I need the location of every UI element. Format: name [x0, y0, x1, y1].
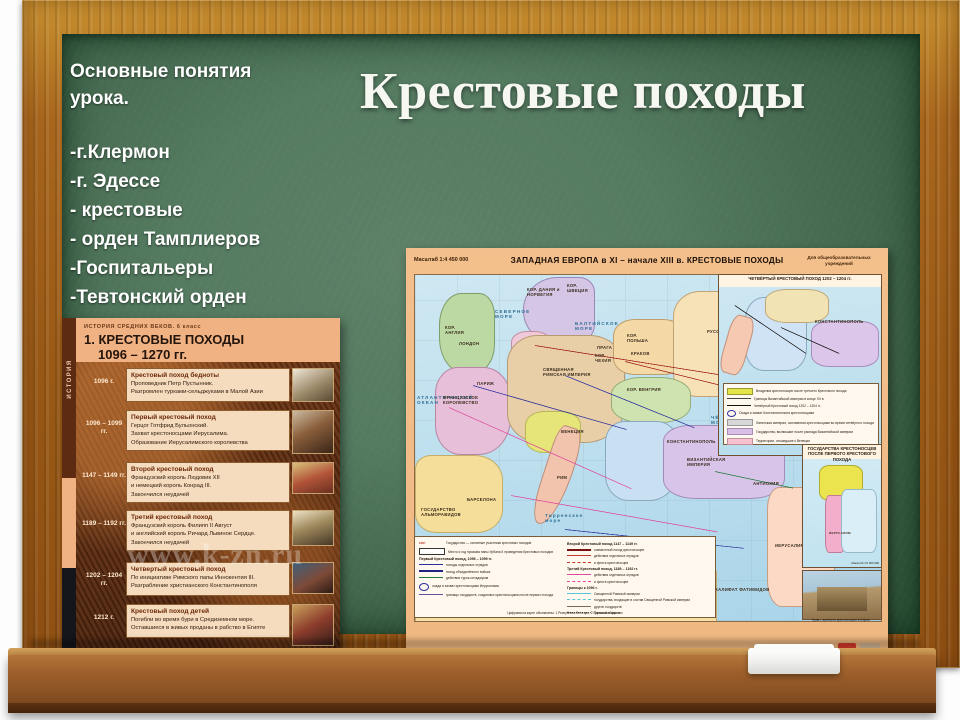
legend-entry: Место и год призыва папы Урбана II прове… [419, 548, 563, 555]
legend-subheading: Второй Крестовый поход 1147 – 1149 гг. [567, 542, 711, 546]
legend-label: Осада и захват Константинополя крестонос… [739, 411, 814, 415]
legend-entry: Границы Византийской империи в конце XII… [727, 397, 875, 401]
row-heading: Первый крестовый поход [131, 414, 285, 422]
row-line: Оставшиеся в живых проданы в рабство в Е… [131, 625, 285, 632]
list-item: -г. Эдессе [70, 167, 370, 196]
region-label: ФРАНЦУЗСКОЕ КОРОЛЕВСТВО [443, 395, 483, 405]
notes-heading-line1: Основные понятия [70, 58, 370, 85]
row-line: Французский король Людовик XII [131, 475, 285, 482]
legend-swatch [567, 555, 591, 557]
inset-scale: Масштаб 1:5 000 000 [851, 561, 879, 565]
list-item: - крестовые [70, 196, 370, 225]
legend-swatch [567, 606, 591, 608]
row-illustration [292, 510, 334, 546]
row-year: 1096 – 1099 гг. [82, 410, 126, 436]
legend-subheading: Границы к 1096 г. [567, 586, 711, 590]
legend-label: границы государств, созданных крестоносц… [446, 593, 553, 597]
city-label: РИМ [557, 475, 567, 480]
legend-swatch [567, 574, 591, 576]
legend-swatch [727, 428, 753, 435]
table-row: 1147 – 1149 гг. Второй крестовый поход Ф… [82, 462, 334, 503]
row-illustration [292, 462, 334, 494]
legend-swatch [567, 599, 591, 601]
city-label: ПРАГА [597, 345, 612, 350]
legend-entry: других государств [567, 605, 711, 609]
row-illustration [292, 562, 334, 594]
legend-swatch [727, 405, 751, 407]
legend-left-column: КОР.Государства — основные участники кре… [419, 541, 563, 599]
inset-land-inner [841, 489, 877, 553]
legend-label: Государства — основные участники крестов… [446, 541, 531, 545]
legend-entry: осада и захват крестоносцами Иерусалима [419, 583, 563, 591]
legend-label: Латинская империя, основанная крестоносц… [756, 421, 874, 425]
legend-swatch [567, 562, 591, 564]
castle-photo [802, 570, 882, 620]
legend-footer: Цифрами на карте обозначены: 1 Республик… [419, 611, 711, 615]
historical-map-poster[interactable]: Масштаб 1:4 450 000 ЗАПАДНАЯ ЕВРОПА в XI… [406, 248, 888, 658]
poster-title: 1. КРЕСТОВЫЕ ПОХОДЫ 1096 – 1270 гг. [84, 332, 334, 362]
region-label: КОР. ЧЕХИЯ [595, 353, 621, 363]
slide-stage: Основные понятия урока. -г.Клермон -г. Э… [0, 0, 960, 720]
table-row: 1096 г. Крестовый поход бедноты Проповед… [82, 368, 334, 402]
legend-label: государства, входящие в состав Священной… [594, 598, 690, 602]
legend-entry: Владения крестоносцев после третьего Кре… [727, 388, 875, 395]
inset-fourth-crusade: ЧЕТВЁРТЫЙ КРЕСТОВЫЙ ПОХОД 1202 – 1204 гг… [718, 274, 882, 456]
legend-entry: и флота крестоносцев [567, 580, 711, 584]
list-item: -г.Клермон [70, 138, 370, 167]
poster-subject-label: ИСТОРИЯ [67, 327, 73, 431]
table-row: 1202 – 1204 гг. Четвертый крестовый похо… [82, 562, 334, 596]
row-line: Проповедник Петр Пустынник. [131, 381, 285, 388]
legend-swatch [727, 438, 753, 445]
legend-entry: Осада и захват Константинополя крестонос… [727, 410, 875, 417]
row-line: Французский король Филипп II Август [131, 523, 285, 530]
row-line: Закончился неудачей [131, 540, 285, 547]
legend-label: Владения крестоносцев после третьего Кре… [756, 389, 846, 393]
legend-swatch [727, 388, 753, 395]
legend-subheading: Третий Крестовый поход, 1189 – 1192 гг. [567, 567, 711, 571]
legend-swatch [419, 548, 445, 555]
legend-swatch [727, 410, 736, 417]
row-year: 1147 – 1149 гг. [82, 462, 126, 480]
city-label: БАРСЕЛОНА [467, 497, 496, 502]
legend-swatch [567, 593, 591, 595]
land-iberia [415, 455, 503, 533]
legend-label: действия турок-сельджуков [446, 576, 488, 580]
poster-title-text: 1. КРЕСТОВЫЕ ПОХОДЫ [84, 332, 244, 347]
poster-eyebrow: ИСТОРИЯ СРЕДНИХ ВЕКОВ. 6 класс [84, 324, 334, 330]
region-label: ХАЛИФАТ ФАТИМИДОВ [715, 587, 773, 592]
map-legend: КОР.Государства — основные участники кре… [414, 536, 716, 618]
legend-entry: действия отдельных отрядов [567, 554, 711, 558]
city-label: ПАРИЖ [477, 381, 494, 386]
legend-entry: Государства, возникшие после распада Виз… [727, 428, 875, 435]
row-year: 1189 – 1192 гг. [82, 510, 126, 528]
sea-label: СЕВЕРНОЕ МОРЕ [495, 309, 541, 319]
poster-side-blank [62, 480, 76, 566]
legend-swatch [419, 570, 443, 573]
row-line: Захват крестоносцами Иерусалима. [131, 431, 285, 438]
legend-label: действия отдельных отрядов [594, 554, 639, 558]
row-line: и немецкий король Конрад III. [131, 483, 285, 490]
row-line: Закончился неудачей [131, 492, 285, 499]
row-line: Разграбление христианского Константинопо… [131, 583, 285, 590]
legend-label: Четвёртый Крестовый поход 1202 – 1204 гг… [754, 404, 821, 408]
row-line: По инициативе Римского папы Иннокентия I… [131, 575, 285, 582]
legend-label: Границы Византийской империи в конце XII… [754, 397, 824, 401]
land-hungary [611, 377, 691, 423]
legend-entry: Латинская империя, основанная крестоносц… [727, 419, 875, 426]
shelf-lip [8, 703, 936, 713]
city-label: ИЕРУСАЛИМ [775, 543, 804, 548]
row-heading: Крестовый поход детей [131, 608, 285, 616]
legend-swatch [727, 419, 753, 426]
inset-city-jerusalem: ИЕРУСАЛИМ [829, 531, 851, 535]
inset-title: ГОСУДАРСТВА КРЕСТОНОСЦЕВ ПОСЛЕ ПЕРВОГО К… [803, 446, 881, 462]
legend-label: Территории, отошедшие к Венеции [756, 439, 810, 443]
list-item: -Тевтонский орден [70, 283, 370, 312]
legend-entry: действия отдельных отрядов [567, 573, 711, 577]
legend-swatch: КОР. [419, 541, 443, 546]
poster-years: 1096 – 1270 гг. [98, 347, 334, 362]
legend-entry: совместный поход крестоносцев [567, 548, 711, 552]
row-line: и английский король Ричард Львиное Сердц… [131, 531, 285, 538]
row-line: Погибли во время бури в Средиземном море… [131, 617, 285, 624]
table-row: 1189 – 1192 гг. Третий крестовый поход Ф… [82, 510, 334, 551]
inset-legend-col: Владения крестоносцев после третьего Кре… [727, 388, 875, 447]
row-line: Образование Иерусалимского королевства [131, 440, 285, 447]
land-france [435, 367, 511, 455]
legend-label: других государств [594, 605, 622, 609]
legend-label: действия отдельных отрядов [594, 573, 639, 577]
row-card: Второй крестовый поход Французский корол… [126, 462, 290, 503]
city-label: ВЕНЕЦИЯ [561, 429, 584, 434]
legend-entry: и флота крестоносцев [567, 561, 711, 565]
legend-swatch [419, 577, 443, 579]
poster-subject-tab: ИСТОРИЯ [62, 318, 76, 478]
sea-label: Тирренское море [545, 513, 581, 523]
region-label: ВИЗАНТИЙСКАЯ ИМПЕРИЯ [687, 457, 735, 467]
legend-entry: границы государств, созданных крестоносц… [419, 593, 563, 597]
inset-legend: Владения крестоносцев после третьего Кре… [723, 383, 879, 445]
inset-title: ЧЕТВЁРТЫЙ КРЕСТОВЫЙ ПОХОД 1202 – 1204 гг… [719, 276, 881, 281]
legend-label: Место и год призыва папы Урбана II прове… [448, 550, 553, 554]
legend-entry: КОР.Государства — основные участники кре… [419, 541, 563, 546]
inset-city-constantinople: КОНСТАНТИНОПОЛЬ [815, 319, 864, 324]
page-title: Крестовые походы [360, 62, 880, 121]
region-label: СВЯЩЕННАЯ РИМСКАЯ ИМПЕРИЯ [543, 367, 595, 377]
map-audience-label: Для общеобразовательных учреждений [796, 255, 882, 267]
legend-label: и флота крестоносцев [594, 561, 628, 565]
row-line: Разгромлен турками-сельджуками в Малой А… [131, 389, 285, 396]
sea-label: БАЛТИЙСКОЕ МОРЕ [575, 321, 617, 331]
row-year: 1212 г. [82, 604, 126, 622]
legend-swatch [419, 594, 443, 596]
row-line: Герцог Готфрид Бульонский. [131, 423, 285, 430]
legend-right-column: Второй Крестовый поход 1147 – 1149 гг. с… [567, 541, 711, 618]
legend-swatch [727, 398, 751, 400]
legend-entry: походы отдельных отрядов [419, 563, 563, 567]
legend-label: походы отдельных отрядов [446, 563, 488, 567]
legend-label: и флота крестоносцев [594, 580, 628, 584]
lesson-notes: Основные понятия урока. -г.Клермон -г. Э… [70, 58, 370, 312]
city-label: АНТИОХИЯ [753, 481, 779, 486]
castle-silhouette [817, 587, 867, 611]
legend-entry: Четвёртый Крестовый поход 1202 – 1204 гг… [727, 404, 875, 408]
inset-land-hungary [765, 289, 829, 323]
row-heading: Четвертый крестовый поход [131, 566, 285, 574]
poster-body: 1096 г. Крестовый поход бедноты Проповед… [76, 362, 340, 684]
city-label: КРАКОВ [631, 351, 650, 356]
city-label: ЛОНДОН [459, 341, 479, 346]
notes-heading-line2: урока. [70, 85, 370, 112]
row-card: Четвертый крестовый поход По инициативе … [126, 562, 290, 596]
list-item: -Госпитальеры [70, 254, 370, 283]
row-illustration [292, 368, 334, 402]
row-card: Третий крестовый поход Французский корол… [126, 510, 290, 551]
chalk-eraser[interactable] [748, 648, 840, 674]
legend-swatch [419, 583, 429, 591]
row-illustration [292, 410, 334, 454]
row-heading: Крестовый поход бедноты [131, 372, 285, 380]
row-year: 1202 – 1204 гг. [82, 562, 126, 588]
legend-swatch [567, 581, 591, 583]
row-heading: Второй крестовый поход [131, 466, 285, 474]
legend-label: совместный поход крестоносцев [594, 548, 644, 552]
row-heading: Третий крестовый поход [131, 514, 285, 522]
inset-crusader-states: ГОСУДАРСТВА КРЕСТОНОСЦЕВ ПОСЛЕ ПЕРВОГО К… [802, 444, 882, 568]
row-card: Крестовый поход бедноты Проповедник Петр… [126, 368, 290, 402]
region-label: КОР. ПОЛЬША [627, 333, 657, 343]
poster-header: ИСТОРИЯ СРЕДНИХ ВЕКОВ. 6 класс 1. КРЕСТО… [84, 324, 334, 362]
region-label: КОР. ДАНИЯ и НОРВЕГИЯ [527, 287, 563, 297]
city-label: КОНСТАНТИНОПОЛЬ [667, 439, 716, 444]
legend-entry: действия турок-сельджуков [419, 576, 563, 580]
legend-swatch [567, 549, 591, 552]
table-row: 1096 – 1099 гг. Первый крестовый поход Г… [82, 410, 334, 454]
region-label: КОР. АНГЛИЯ [445, 325, 475, 335]
legend-label: осада и захват крестоносцами Иерусалима [432, 584, 499, 588]
legend-subheading: Первый Крестовый поход, 1096 – 1099 гг. [419, 557, 563, 561]
legend-swatch [419, 564, 443, 566]
row-card: Первый крестовый поход Герцог Готфрид Бу… [126, 410, 290, 451]
region-label: КОР. ШВЕЦИЯ [567, 283, 597, 293]
list-item: - орден Тамплиеров [70, 225, 370, 254]
region-label: КОР. ВЕНГРИЯ [627, 387, 661, 392]
legend-entry: поход объединённого войска [419, 570, 563, 574]
legend-label: Священной Римской империи [594, 592, 640, 596]
row-card: Крестовый поход детей Погибли во время б… [126, 604, 290, 638]
photo-caption: Крак – крепость крестоносцев в Сирии [802, 618, 880, 622]
legend-entry: государства, входящие в состав Священной… [567, 598, 711, 602]
row-year: 1096 г. [82, 368, 126, 386]
legend-label: Государства, возникшие после распада Виз… [756, 430, 853, 434]
notes-list: -г.Клермон -г. Эдессе - крестовые - орде… [70, 138, 370, 312]
legend-label: поход объединённого войска [446, 570, 490, 574]
timeline-poster[interactable]: ИСТОРИЯ ИСТОРИЯ СРЕДНИХ ВЕКОВ. 6 класс 1… [62, 318, 340, 684]
region-label: ГОСУДАРСТВО АЛЬМОРАВИДОВ [421, 507, 467, 517]
legend-entry: Священной Римской империи [567, 592, 711, 596]
